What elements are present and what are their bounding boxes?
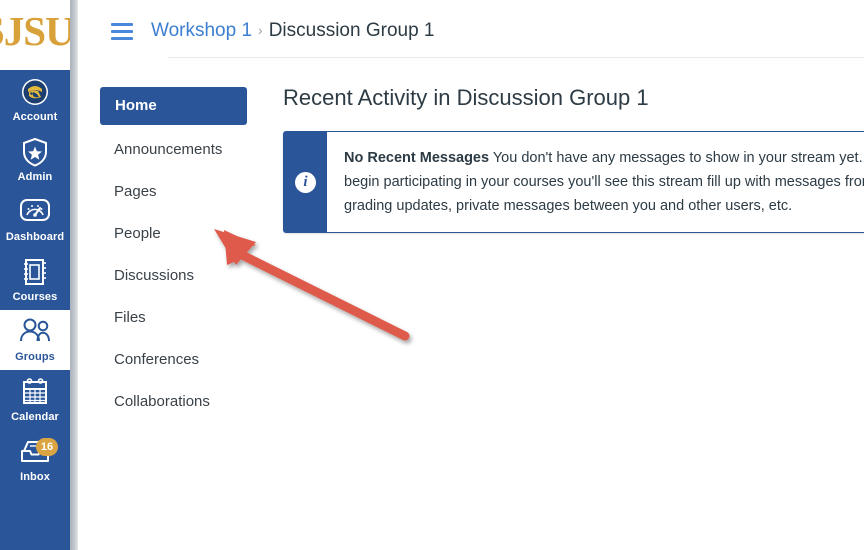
global-nav-label-courses: Courses <box>0 291 70 304</box>
course-nav-item-announcements[interactable]: Announcements <box>100 133 260 167</box>
course-navigation-menu: Home Announcements Pages People Discussi… <box>100 87 260 427</box>
hamburger-bar-2 <box>111 30 133 33</box>
global-nav-label-inbox: Inbox <box>0 471 70 484</box>
calendar-icon <box>0 377 70 409</box>
course-nav-item-conferences[interactable]: Conferences <box>100 343 260 377</box>
course-nav-item-collaborations[interactable]: Collaborations <box>100 385 260 419</box>
inbox-tray-icon: 16 <box>0 437 70 469</box>
global-nav-item-account[interactable]: Account <box>0 70 70 130</box>
course-nav-item-home[interactable]: Home <box>100 87 247 125</box>
header-divider <box>168 57 864 58</box>
breadcrumb-current: Discussion Group 1 <box>269 20 435 41</box>
page-title: Recent Activity in Discussion Group 1 <box>283 84 864 112</box>
canvas-lms-page: SJSU Account <box>0 0 864 550</box>
page-header: Workshop 1›Discussion Group 1 <box>78 0 864 58</box>
global-nav-label-admin: Admin <box>0 171 70 184</box>
alert-body: No Recent Messages You don't have any me… <box>327 132 864 232</box>
global-nav-item-dashboard[interactable]: Dashboard <box>0 190 70 250</box>
global-navigation-sidebar: SJSU Account <box>0 0 70 550</box>
course-nav-item-pages[interactable]: Pages <box>100 175 260 209</box>
people-group-icon <box>0 317 70 349</box>
user-avatar-icon <box>0 77 70 109</box>
global-nav-label-calendar: Calendar <box>0 411 70 424</box>
course-nav-item-people[interactable]: People <box>100 217 260 251</box>
shield-star-icon <box>0 137 70 169</box>
notebook-icon <box>0 257 70 289</box>
institution-logo-area: SJSU <box>0 0 70 70</box>
sjsu-logo: SJSU <box>0 11 70 52</box>
global-nav-item-admin[interactable]: Admin <box>0 130 70 190</box>
breadcrumb-separator-icon: › <box>258 22 263 38</box>
global-nav-label-groups: Groups <box>0 351 70 364</box>
global-nav-label-dashboard: Dashboard <box>0 231 70 244</box>
main-content: Recent Activity in Discussion Group 1 i … <box>283 84 864 233</box>
no-recent-messages-alert: i No Recent Messages You don't have any … <box>283 131 864 233</box>
info-circle-icon: i <box>295 172 316 193</box>
course-nav-item-discussions[interactable]: Discussions <box>100 259 260 293</box>
breadcrumb-link-workshop[interactable]: Workshop 1 <box>151 20 252 41</box>
global-nav-item-groups[interactable]: Groups <box>0 310 70 370</box>
breadcrumb: Workshop 1›Discussion Group 1 <box>151 17 435 44</box>
inbox-unread-badge: 16 <box>36 438 58 456</box>
course-nav-item-files[interactable]: Files <box>100 301 260 335</box>
global-nav-item-inbox[interactable]: 16 Inbox <box>0 430 70 490</box>
global-nav-item-courses[interactable]: Courses <box>0 250 70 310</box>
alert-accent-band: i <box>284 132 327 232</box>
alert-heading: No Recent Messages <box>344 150 489 166</box>
global-nav-items: Account Admin <box>0 70 70 550</box>
page-scrollbar[interactable] <box>70 0 78 550</box>
global-nav-item-calendar[interactable]: Calendar <box>0 370 70 430</box>
hamburger-bar-3 <box>111 37 133 40</box>
hamburger-bar-1 <box>111 23 133 26</box>
global-nav-label-account: Account <box>0 111 70 124</box>
speedometer-icon <box>0 197 70 229</box>
arrow-shaft <box>240 254 405 336</box>
hamburger-menu-icon[interactable] <box>111 23 133 40</box>
